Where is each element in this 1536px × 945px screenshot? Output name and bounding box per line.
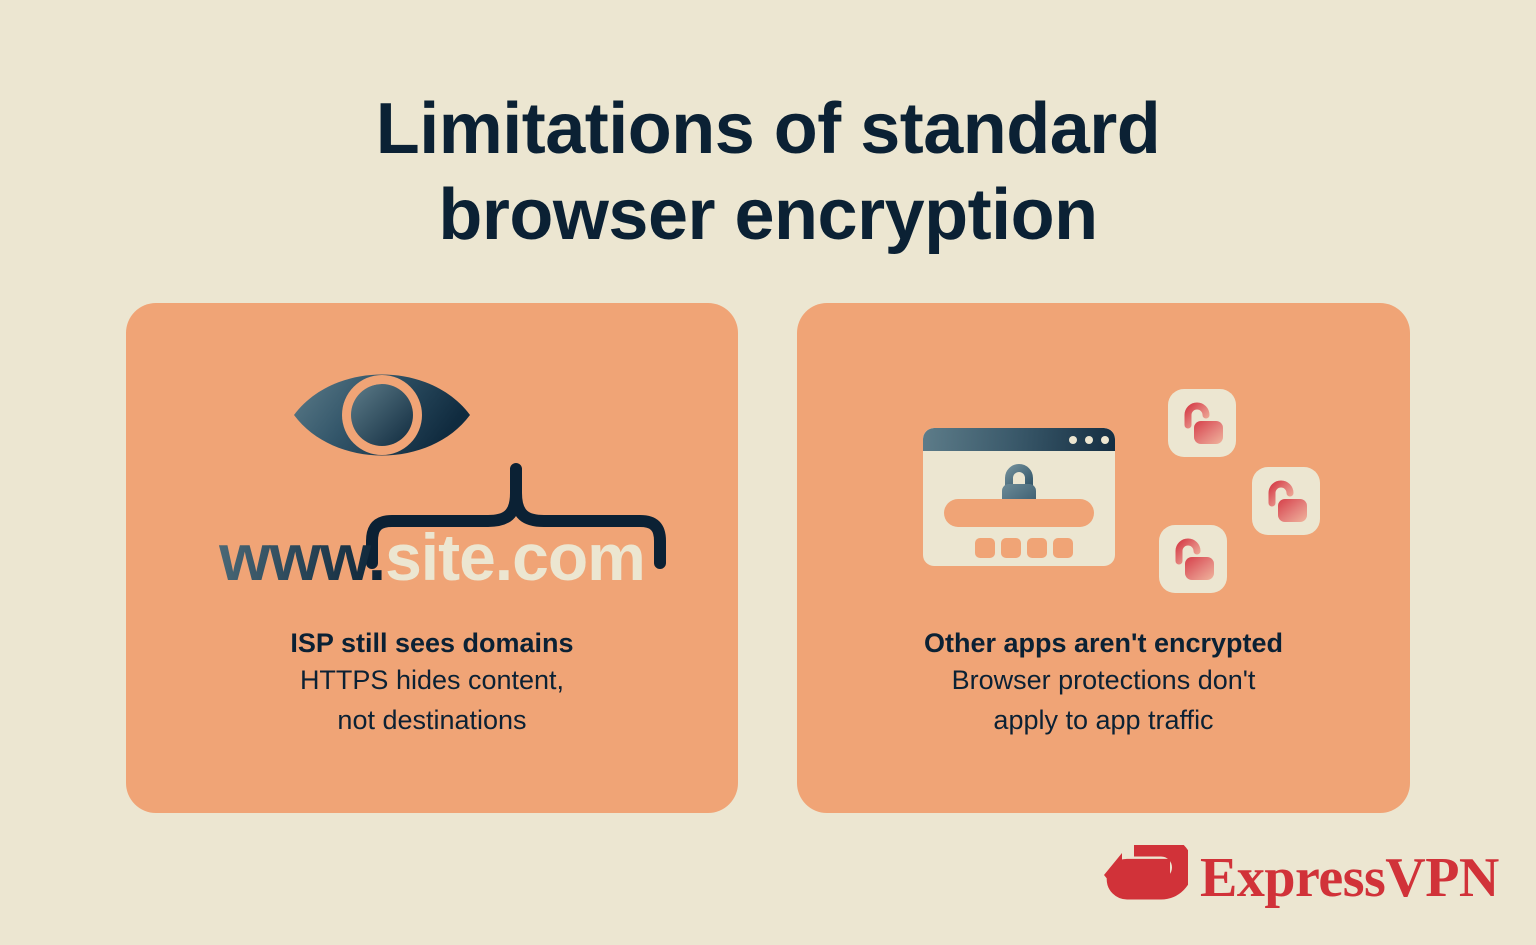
- page-title-line-2: browser encryption: [0, 172, 1536, 258]
- card-apps-not-encrypted: Other apps aren't encrypted Browser prot…: [797, 303, 1410, 813]
- eye-icon: [292, 359, 472, 471]
- browser-block-3: [1027, 538, 1047, 558]
- browser-address-pill: [944, 499, 1094, 527]
- page-title: Limitations of standard browser encrypti…: [0, 86, 1536, 258]
- open-padlock-icon-2: [1265, 479, 1309, 524]
- app-tile-2: [1252, 467, 1320, 535]
- app-tile-1: [1168, 389, 1236, 457]
- expressvpn-mark-icon: [1104, 845, 1188, 911]
- browser-block-2: [1001, 538, 1021, 558]
- browser-dot-icon-1: [1069, 436, 1077, 444]
- browser-dot-icon-3: [1101, 436, 1109, 444]
- card-isp-sees-domains: www.site.com ISP still sees domains HTTP…: [126, 303, 738, 813]
- open-padlock-icon-3: [1172, 537, 1216, 582]
- card-subtext-right-line-2: apply to app traffic: [797, 700, 1410, 740]
- app-tile-3: [1159, 525, 1227, 593]
- open-padlock-icon-1: [1181, 401, 1225, 446]
- card-heading-left: ISP still sees domains: [126, 626, 738, 660]
- browser-block-1: [975, 538, 995, 558]
- expressvpn-wordmark: ExpressVPN: [1200, 849, 1499, 907]
- card-caption-left: ISP still sees domains HTTPS hides conte…: [126, 626, 738, 740]
- card-subtext-left-line-2: not destinations: [126, 700, 738, 740]
- browser-dot-icon-2: [1085, 436, 1093, 444]
- browser-title-bar: [923, 428, 1115, 451]
- url-prefix: www.: [219, 520, 385, 594]
- card-caption-right: Other apps aren't encrypted Browser prot…: [797, 626, 1410, 740]
- page-title-line-1: Limitations of standard: [0, 86, 1536, 172]
- card-subtext-left-line-1: HTTPS hides content,: [126, 660, 738, 700]
- expressvpn-logo: ExpressVPN: [1104, 841, 1422, 915]
- card-subtext-right-line-1: Browser protections don't: [797, 660, 1410, 700]
- browser-window-icon: [923, 428, 1115, 566]
- url-label: www.site.com: [126, 521, 738, 593]
- card-heading-right: Other apps aren't encrypted: [797, 626, 1410, 660]
- browser-block-4: [1053, 538, 1073, 558]
- url-domain: site.com: [385, 520, 645, 594]
